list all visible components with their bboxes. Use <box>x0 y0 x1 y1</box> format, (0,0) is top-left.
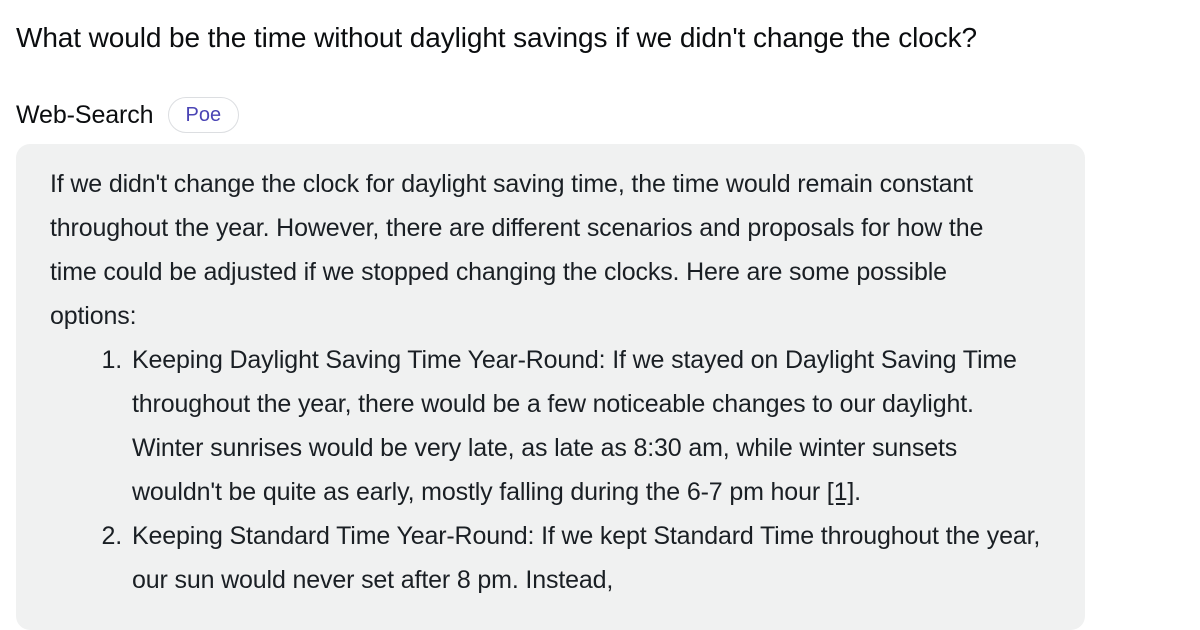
list-item-text: Keeping Daylight Saving Time Year-Round:… <box>132 346 1017 506</box>
bot-badge-poe[interactable]: Poe <box>168 97 240 133</box>
list-item: 2. Keeping Standard Time Year-Round: If … <box>50 514 1051 602</box>
answer-ordered-list: 1. Keeping Daylight Saving Time Year-Rou… <box>50 338 1051 602</box>
list-item-text: Keeping Standard Time Year-Round: If we … <box>132 522 1040 594</box>
source-label: Web-Search <box>16 100 154 130</box>
answer-intro-paragraph: If we didn't change the clock for daylig… <box>50 162 1030 338</box>
list-item-text-tail: . <box>854 478 861 506</box>
answer-page: What would be the time without daylight … <box>0 0 1200 630</box>
list-item-marker: 2. <box>88 514 122 558</box>
list-item: 1. Keeping Daylight Saving Time Year-Rou… <box>50 338 1051 514</box>
citation-link-1[interactable]: [1] <box>827 478 854 506</box>
page-title: What would be the time without daylight … <box>16 20 1176 56</box>
answer-bubble: If we didn't change the clock for daylig… <box>16 144 1085 630</box>
source-row: Web-Search Poe <box>16 96 239 134</box>
list-item-marker: 1. <box>88 338 122 382</box>
